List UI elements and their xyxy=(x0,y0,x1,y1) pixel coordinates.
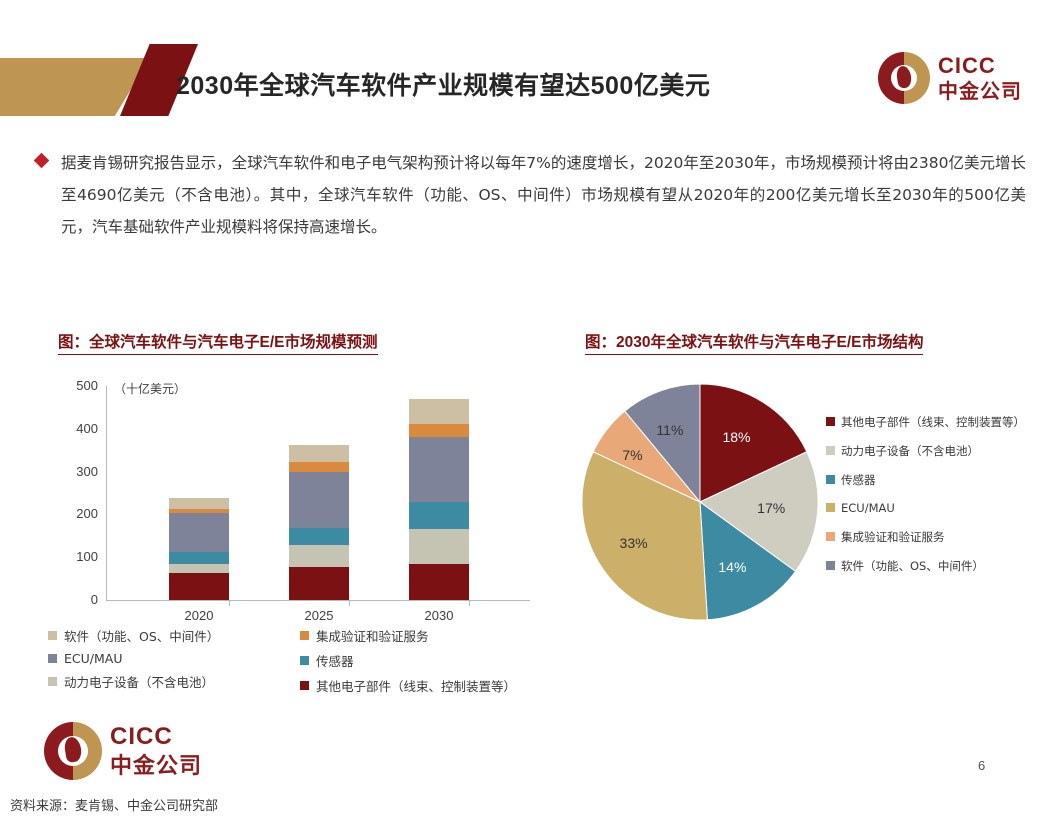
bar-chart-segment xyxy=(289,528,349,545)
legend-swatch-icon xyxy=(826,446,835,455)
bar-legend-item: ECU/MAU xyxy=(48,651,219,666)
pie-legend-label: 其他电子部件（线束、控制装置等） xyxy=(841,414,1025,432)
legend-swatch-icon xyxy=(48,677,57,686)
bar-chart-bar xyxy=(289,445,349,600)
legend-swatch-icon xyxy=(826,417,835,426)
source-note: 资料来源：麦肯锡、中金公司研究部 xyxy=(10,795,218,814)
pie-chart-legend: 其他电子部件（线束、控制装置等）动力电子设备（不含电池）传感器ECU/MAU集成… xyxy=(826,414,1041,587)
legend-swatch-icon xyxy=(826,561,835,570)
bar-legend-item: 软件（功能、OS、中间件） xyxy=(48,626,219,645)
pie-data-label: 17% xyxy=(757,500,785,516)
cicc-logo-footer: CICC 中金公司 xyxy=(44,722,202,780)
cicc-mark-icon xyxy=(878,52,930,104)
bar-legend-item: 其他电子部件（线束、控制装置等） xyxy=(300,676,516,695)
legend-swatch-icon xyxy=(48,654,57,663)
cicc-footer-cn: 中金公司 xyxy=(110,755,202,777)
bar-chart-segment xyxy=(289,545,349,567)
bar-chart-segment xyxy=(169,573,229,600)
pie-chart-svg xyxy=(560,382,840,647)
cicc-logo-text: CICC 中金公司 xyxy=(938,55,1022,102)
bar-chart-segment xyxy=(169,513,229,552)
bar-legend-item: 集成验证和验证服务 xyxy=(300,626,516,645)
bar-legend-label: 其他电子部件（线束、控制装置等） xyxy=(316,676,516,695)
bar-chart-segment xyxy=(169,564,229,573)
pie-data-label: 18% xyxy=(722,429,750,445)
pie-legend-item: 其他电子部件（线束、控制装置等） xyxy=(826,414,1041,432)
cicc-logo-en: CICC xyxy=(938,55,1022,77)
bar-legend-item: 传感器 xyxy=(300,651,516,670)
bar-chart-segment xyxy=(289,445,349,463)
pie-data-label: 7% xyxy=(622,447,642,463)
legend-swatch-icon xyxy=(826,503,835,512)
bar-chart-x-label: 2025 xyxy=(279,608,359,623)
pie-legend-label: 软件（功能、OS、中间件） xyxy=(841,558,984,576)
bar-chart-bar xyxy=(169,498,229,600)
bar-chart: （十亿美元） 0100200300400500 202020252030 xyxy=(30,378,530,610)
bar-legend-label: 集成验证和验证服务 xyxy=(316,626,429,645)
pie-legend-item: 动力电子设备（不含电池） xyxy=(826,443,1041,461)
pie-legend-label: ECU/MAU xyxy=(841,500,895,518)
pie-chart-title: 图：2030年全球汽车软件与汽车电子E/E市场结构 xyxy=(585,330,923,355)
bar-chart-y-tick-label: 0 xyxy=(58,593,98,606)
pie-data-label: 14% xyxy=(718,559,746,575)
pie-legend-item: 集成验证和验证服务 xyxy=(826,529,1041,547)
bar-chart-segment xyxy=(409,437,469,502)
bar-chart-y-tick-label: 100 xyxy=(58,550,98,563)
cicc-logo-header: CICC 中金公司 xyxy=(878,52,1022,104)
bar-chart-segment xyxy=(289,462,349,472)
page-title: 2030年全球汽车软件产业规模有望达500亿美元 xyxy=(176,66,710,102)
bar-chart-segment xyxy=(409,564,469,600)
bar-chart-x-tick xyxy=(349,600,350,606)
bar-chart-segment xyxy=(289,472,349,528)
pie-legend-item: 软件（功能、OS、中间件） xyxy=(826,558,1041,576)
bar-chart-segment xyxy=(409,424,469,437)
pie-legend-item: ECU/MAU xyxy=(826,500,1041,518)
bar-chart-plot-area xyxy=(107,386,530,600)
bar-legend-column-1: 软件（功能、OS、中间件）ECU/MAU动力电子设备（不含电池） xyxy=(48,626,219,697)
cicc-logo-cn: 中金公司 xyxy=(938,82,1022,102)
bar-legend-label: 动力电子设备（不含电池） xyxy=(64,672,214,691)
page-header: 2030年全球汽车软件产业规模有望达500亿美元 CICC 中金公司 xyxy=(0,0,1056,128)
pie-legend-label: 传感器 xyxy=(841,472,876,490)
bar-chart-segment xyxy=(169,498,229,509)
bar-chart-segment xyxy=(409,529,469,564)
bar-chart-segment xyxy=(409,502,469,529)
bar-chart-title: 图：全球汽车软件与汽车电子E/E市场规模预测 xyxy=(58,330,378,355)
bullet-paragraph: 据麦肯锡研究报告显示，全球汽车软件和电子电气架构预计将以每年7%的速度增长，20… xyxy=(36,148,1026,243)
bar-chart-y-tick-label: 300 xyxy=(58,465,98,478)
bar-legend-label: 软件（功能、OS、中间件） xyxy=(64,626,219,645)
bar-chart-x-label: 2030 xyxy=(399,608,479,623)
bar-chart-bar xyxy=(409,399,469,600)
bar-chart-x-tick xyxy=(229,600,230,606)
legend-swatch-icon xyxy=(300,656,309,665)
bar-chart-segment xyxy=(409,399,469,424)
pie-data-label: 33% xyxy=(620,535,648,551)
bar-chart-segment xyxy=(169,552,229,564)
legend-swatch-icon xyxy=(826,532,835,541)
bar-chart-x-label: 2020 xyxy=(159,608,239,623)
legend-swatch-icon xyxy=(826,475,835,484)
pie-data-label: 11% xyxy=(656,422,683,438)
bar-chart-y-tick-label: 400 xyxy=(58,422,98,435)
bar-chart-x-axis xyxy=(106,600,530,601)
bar-legend-item: 动力电子设备（不含电池） xyxy=(48,672,219,691)
bar-chart-segment xyxy=(289,567,349,600)
pie-legend-item: 传感器 xyxy=(826,472,1041,490)
bar-legend-label: 传感器 xyxy=(316,651,354,670)
pie-legend-label: 集成验证和验证服务 xyxy=(841,529,945,547)
bullet-paragraph-text: 据麦肯锡研究报告显示，全球汽车软件和电子电气架构预计将以每年7%的速度增长，20… xyxy=(61,148,1026,243)
legend-swatch-icon xyxy=(300,681,309,690)
diamond-bullet-icon xyxy=(34,153,50,169)
bar-chart-y-tick-label: 200 xyxy=(58,507,98,520)
pie-legend-label: 动力电子设备（不含电池） xyxy=(841,443,979,461)
bar-chart-x-tick xyxy=(469,600,470,606)
legend-swatch-icon xyxy=(300,631,309,640)
bar-legend-column-2: 集成验证和验证服务传感器其他电子部件（线束、控制装置等） xyxy=(300,626,516,701)
cicc-footer-en: CICC xyxy=(110,725,202,749)
legend-swatch-icon xyxy=(48,631,57,640)
bar-chart-y-tick-label: 500 xyxy=(58,379,98,392)
cicc-mark-icon-footer xyxy=(44,722,102,780)
bar-legend-label: ECU/MAU xyxy=(64,651,122,666)
cicc-footer-text: CICC 中金公司 xyxy=(110,725,202,777)
page-number: 6 xyxy=(978,758,985,773)
